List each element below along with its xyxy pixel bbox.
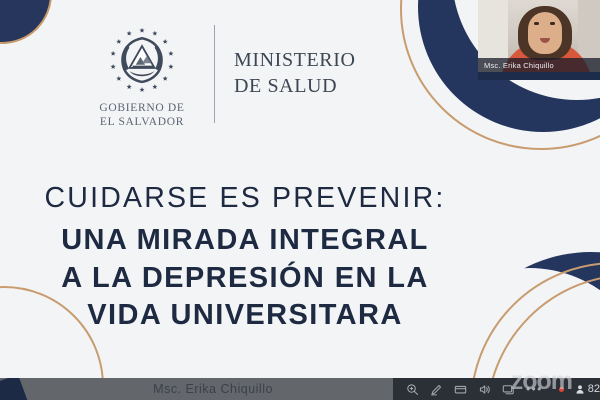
decor-toolbar-corner bbox=[0, 378, 32, 400]
ministry-logo-lockup: GOBIERNO DE EL SALVADOR MINISTERIO DE SA… bbox=[82, 18, 356, 129]
toolbar-presenter-strip: Msc. Erika Chiquillo bbox=[0, 378, 393, 400]
participant-face bbox=[528, 12, 562, 54]
view-options-icon[interactable] bbox=[454, 383, 467, 396]
participants-count[interactable]: 82 bbox=[575, 383, 600, 395]
decor-top-left-gold-arc bbox=[0, 0, 52, 44]
ministry-label: MINISTERIO DE SALUD bbox=[215, 48, 356, 99]
title-line-1: CUIDARSE ES PREVENIR: bbox=[0, 180, 490, 217]
participants-count-label: 82 bbox=[588, 383, 600, 395]
government-label: GOBIERNO DE EL SALVADOR bbox=[99, 101, 184, 129]
more-options-icon[interactable]: ••• bbox=[526, 383, 543, 395]
person-icon bbox=[575, 384, 585, 395]
title-line-2: UNA MIRADA INTEGRAL bbox=[0, 222, 490, 260]
annotate-pen-icon[interactable] bbox=[430, 383, 443, 396]
participant-eye-right bbox=[550, 22, 555, 25]
video-tile-underlay bbox=[478, 72, 600, 80]
zoom-in-icon[interactable] bbox=[406, 383, 419, 396]
video-name-bar: Msc. Erika Chiquillo bbox=[478, 58, 600, 72]
share-screen-icon[interactable] bbox=[502, 383, 515, 396]
meeting-toolbar: Msc. Erika Chiquillo zoom bbox=[0, 378, 600, 400]
title-line-4: VIDA UNIVERSITARA bbox=[0, 297, 490, 335]
title-line-3: A LA DEPRESIÓN EN LA bbox=[0, 260, 490, 298]
video-participant-name: Msc. Erika Chiquillo bbox=[478, 61, 554, 70]
participant-video-tile[interactable]: Msc. Erika Chiquillo bbox=[478, 0, 600, 72]
audio-speaker-icon[interactable] bbox=[478, 383, 491, 396]
decor-top-left-navy-circle bbox=[0, 0, 52, 44]
el-salvador-coat-of-arms-icon bbox=[103, 18, 181, 96]
zoom-meeting-window: GOBIERNO DE EL SALVADOR MINISTERIO DE SA… bbox=[0, 0, 600, 400]
government-block: GOBIERNO DE EL SALVADOR bbox=[82, 18, 214, 129]
slide-title-block: CUIDARSE ES PREVENIR: UNA MIRADA INTEGRA… bbox=[0, 180, 490, 335]
participant-eye-left bbox=[534, 22, 539, 25]
presenter-name-label: Msc. Erika Chiquillo bbox=[153, 382, 393, 396]
decor-bottom-right-gold-arc-inner bbox=[486, 274, 600, 378]
toolbar-controls: zoom bbox=[393, 378, 600, 400]
